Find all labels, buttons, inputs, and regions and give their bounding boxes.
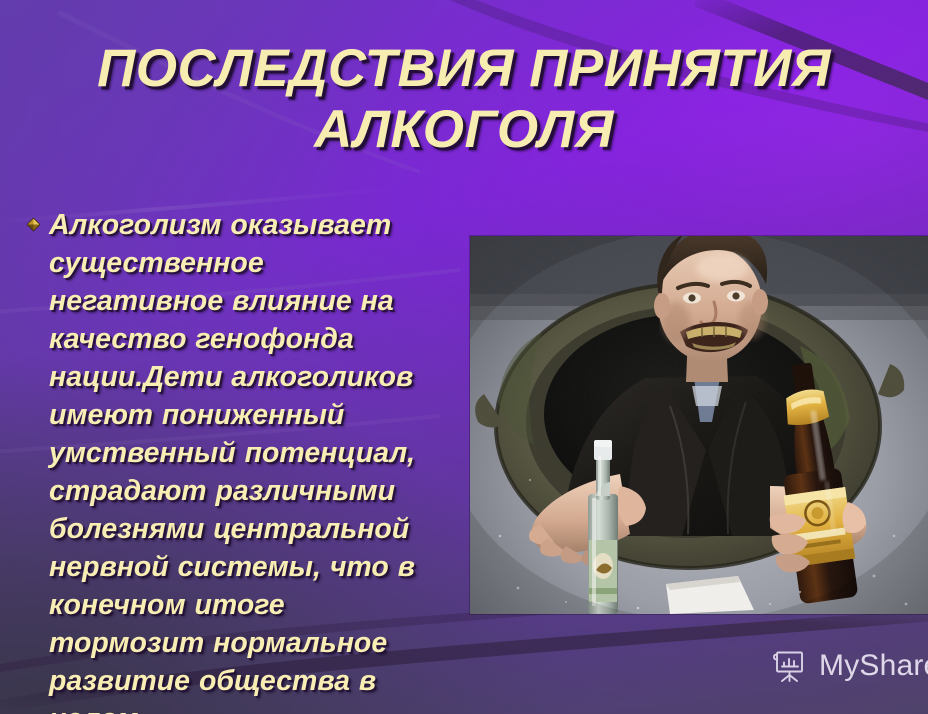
presentation-easel-icon — [772, 648, 810, 684]
myshared-watermark: MyShared — [772, 648, 928, 684]
slide-body-text: Алкоголизм оказывает существенное негати… — [49, 206, 446, 714]
myshared-watermark-label: MyShared — [819, 649, 928, 683]
slide-title-line-1: ПОСЛЕДСТВИЯ ПРИНЯТИЯ — [0, 38, 928, 99]
diamond-bullet-icon — [26, 217, 41, 232]
slide-title-line-2: АЛКОГОЛЯ — [0, 99, 928, 160]
slide-photo — [470, 236, 928, 614]
slide-title: ПОСЛЕДСТВИЯ ПРИНЯТИЯ АЛКОГОЛЯ — [0, 38, 928, 160]
presentation-slide: ПОСЛЕДСТВИЯ ПРИНЯТИЯ АЛКОГОЛЯ Алкоголизм… — [0, 0, 928, 714]
slide-body-bullet-item: Алкоголизм оказывает существенное негати… — [26, 206, 446, 714]
